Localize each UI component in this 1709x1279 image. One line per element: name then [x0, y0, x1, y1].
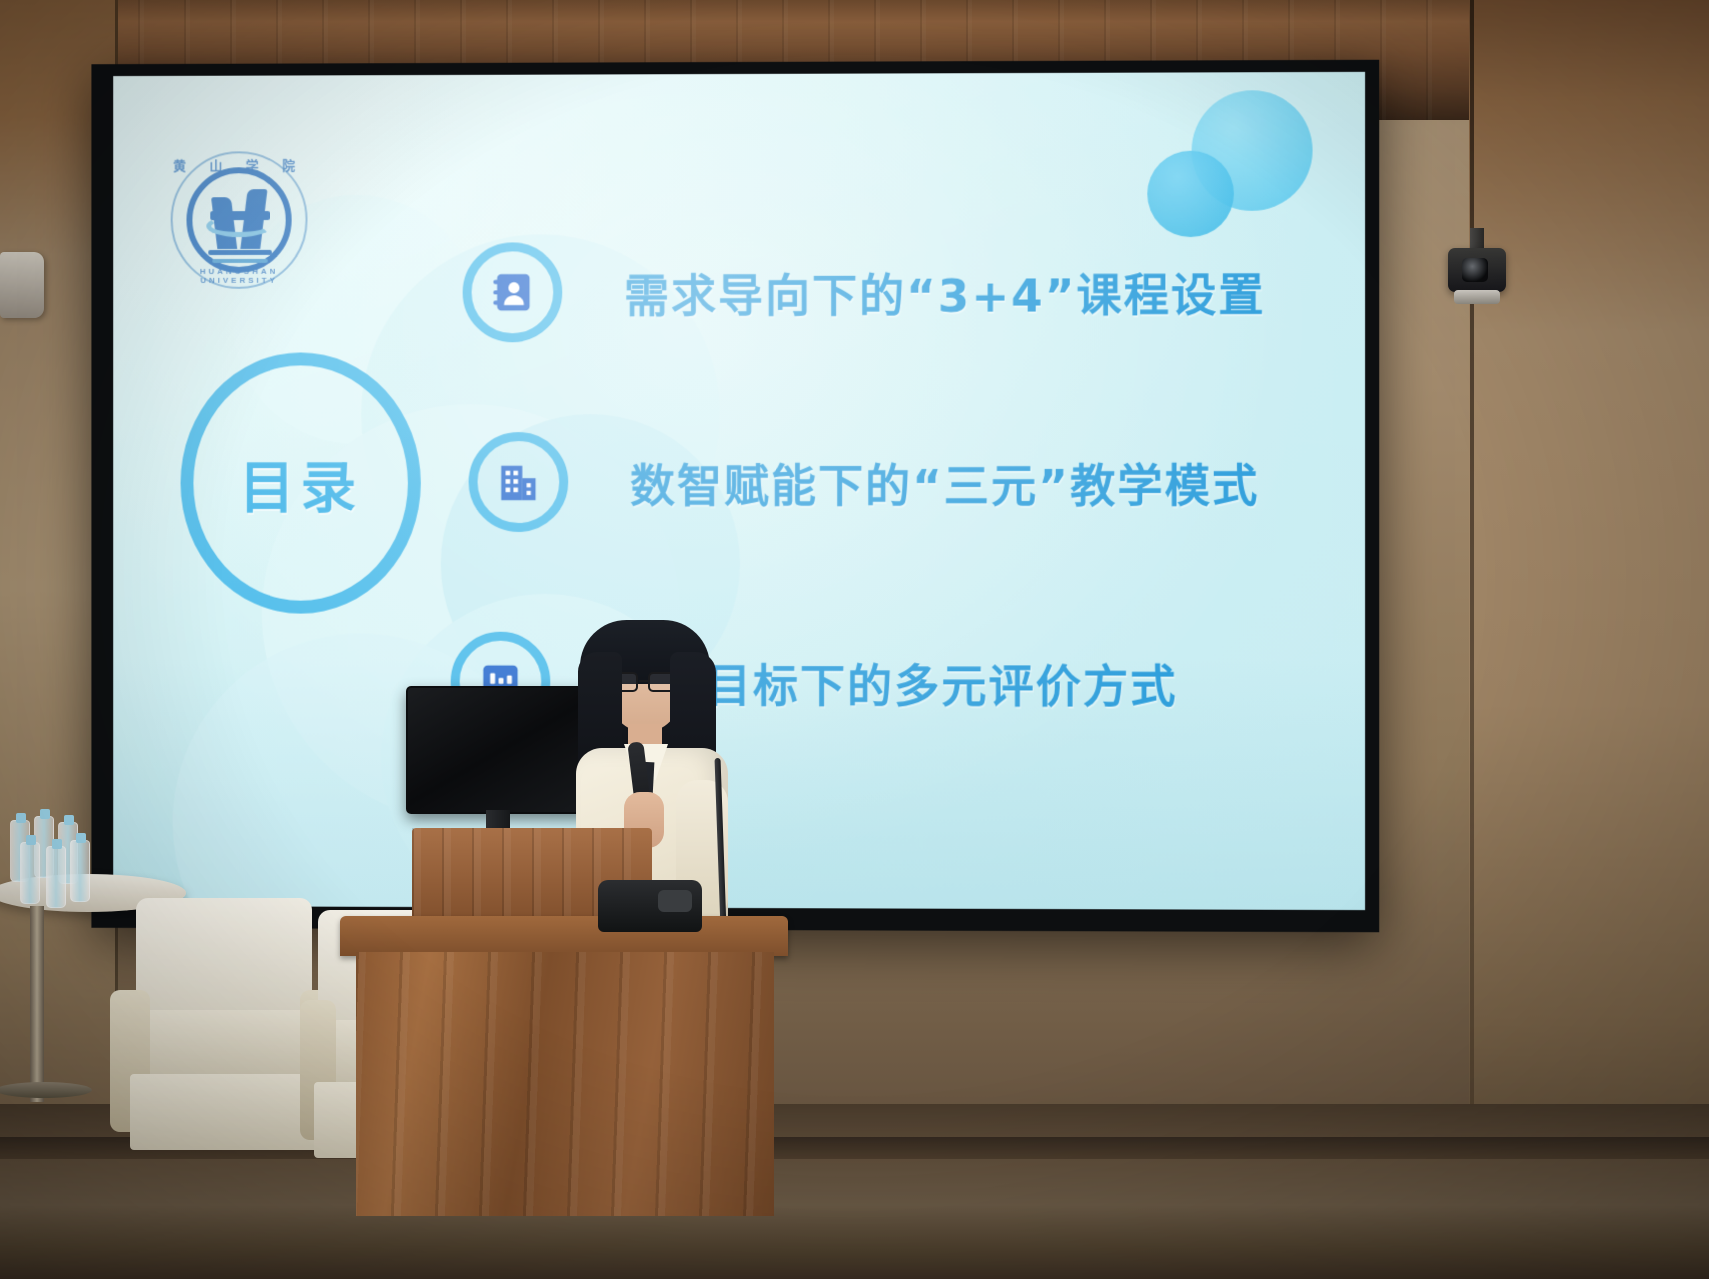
logo-mark — [208, 185, 271, 257]
logo-english-text: HUANGSHAN UNIVERSITY — [165, 267, 314, 285]
toc-item-2-ring — [469, 432, 569, 532]
desk-microphone-base — [598, 880, 702, 932]
screen-surface: 黄 山 学 院 HUANGSHAN UNIVERSITY 目录 — [113, 72, 1365, 910]
wall-seam — [1470, 0, 1474, 1279]
building-icon — [495, 459, 541, 505]
toc-label: 目录 — [239, 443, 362, 524]
toc-item-1-text: 需求导向下的“3+4”课程设置 — [624, 258, 1266, 324]
presentation-slide: 黄 山 学 院 HUANGSHAN UNIVERSITY 目录 — [113, 72, 1365, 910]
toc-ring: 目录 — [181, 352, 421, 613]
right-wall-panel — [1469, 0, 1709, 1279]
lecture-hall-scene: 黄 山 学 院 HUANGSHAN UNIVERSITY 目录 — [0, 0, 1709, 1279]
logo-chinese-text: 黄 山 学 院 — [165, 155, 314, 174]
contact-card-icon — [490, 269, 536, 315]
wall-sconce — [0, 252, 44, 318]
corner-bubble-small-icon — [1147, 151, 1234, 238]
toc-item-2-text: 数智赋能下的“三元”教学模式 — [630, 449, 1259, 514]
camera-lens-icon — [1462, 258, 1488, 282]
huangshan-university-emblem-icon: 黄 山 学 院 HUANGSHAN UNIVERSITY — [165, 145, 314, 295]
wooden-lectern — [340, 916, 788, 1216]
toc-item-1-ring — [463, 242, 563, 342]
wall-mounted-camera — [1448, 228, 1506, 324]
toc-item-1[interactable]: 需求导向下的“3+4”课程设置 — [463, 241, 1266, 342]
toc-item-2[interactable]: 数智赋能下的“三元”教学模式 — [469, 432, 1260, 532]
